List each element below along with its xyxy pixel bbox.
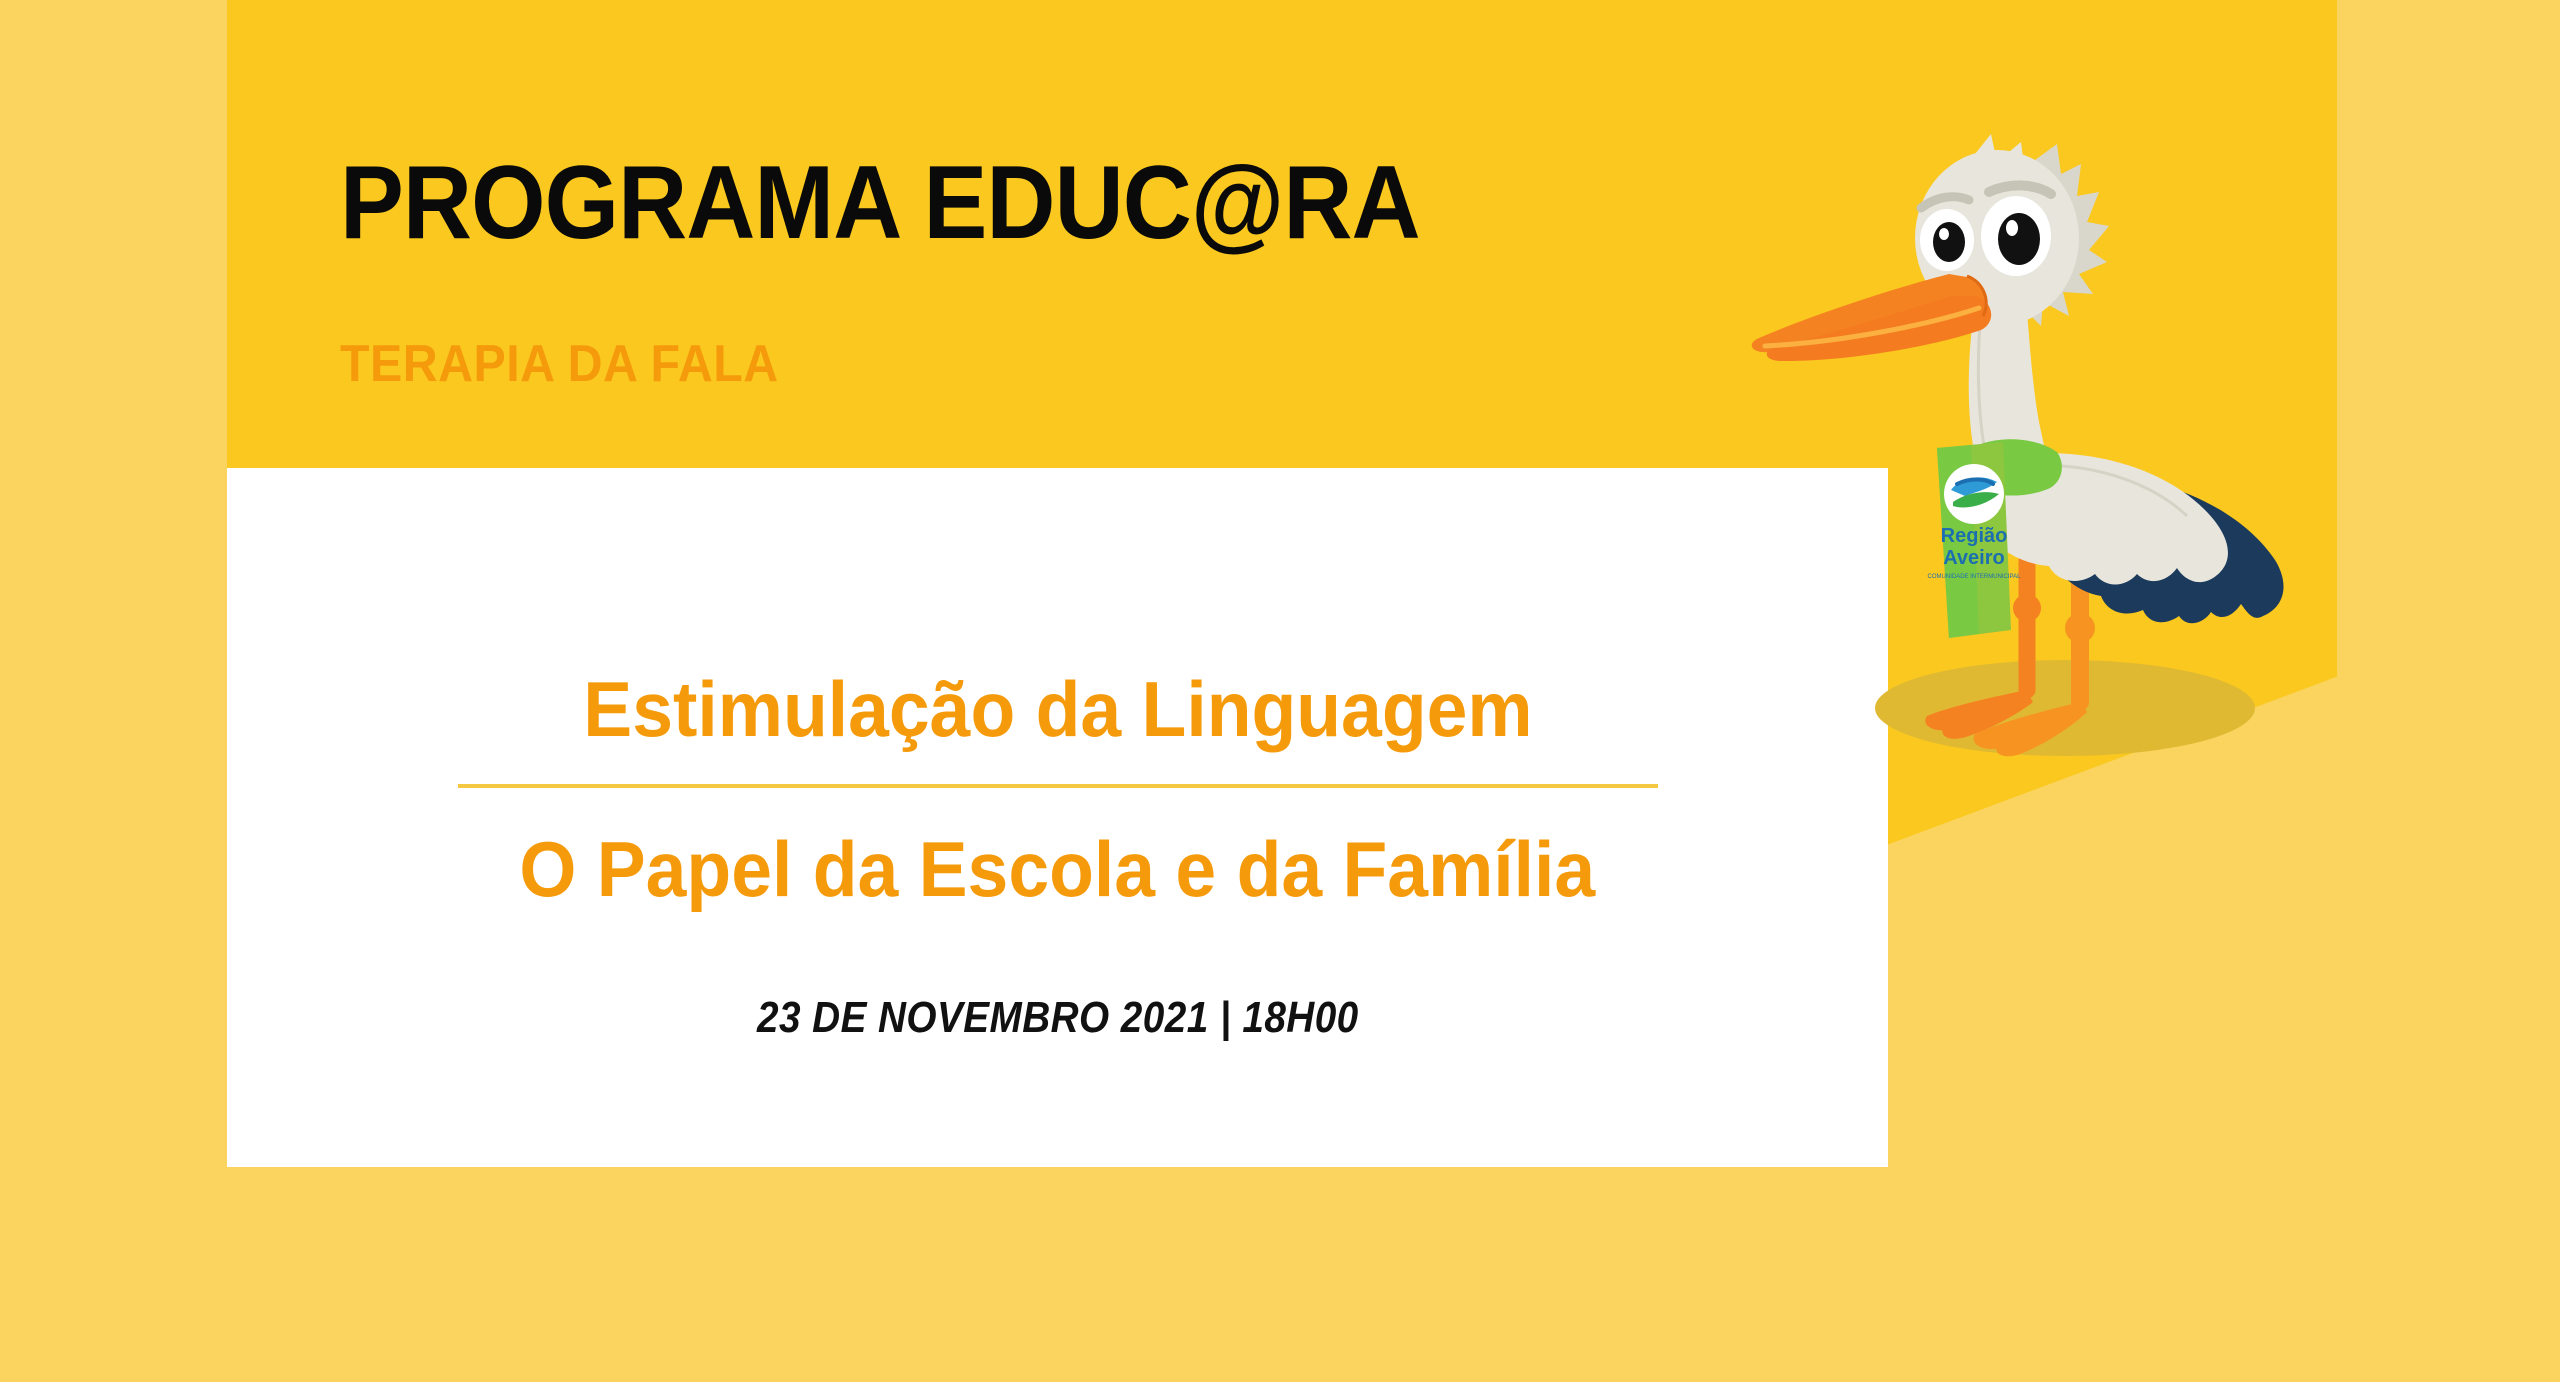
session-card-content: Estimulação da Linguagem O Papel da Esco… xyxy=(227,468,1888,1167)
header-block: PROGRAMA EDUC@RA TERAPIA DA FALA xyxy=(340,150,1740,390)
session-title-primary: Estimulação da Linguagem xyxy=(583,670,1532,748)
session-card: Estimulação da Linguagem O Papel da Esco… xyxy=(227,468,1888,1167)
session-title-secondary: O Papel da Escola e da Família xyxy=(520,830,1596,908)
page-title: PROGRAMA EDUC@RA xyxy=(340,150,1628,256)
title-divider xyxy=(458,784,1658,788)
poster-canvas: PROGRAMA EDUC@RA TERAPIA DA FALA Estimul… xyxy=(0,0,2560,1382)
session-datetime: 23 DE NOVEMBRO 2021 | 18H00 xyxy=(757,996,1359,1040)
program-subtitle: TERAPIA DA FALA xyxy=(340,338,1642,390)
